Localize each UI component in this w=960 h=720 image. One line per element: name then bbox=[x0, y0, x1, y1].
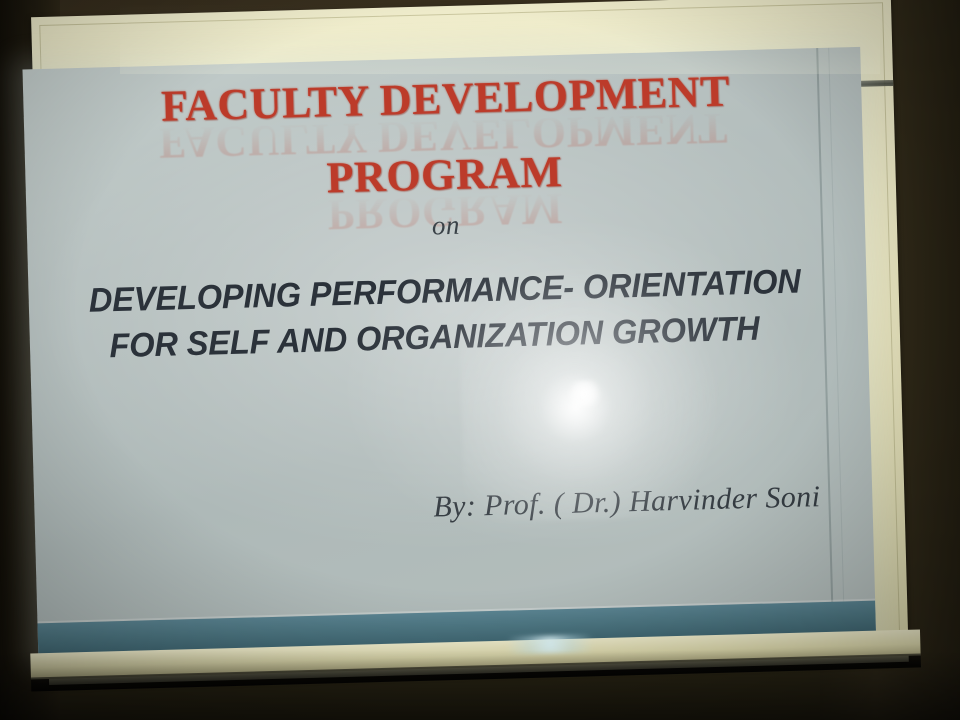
photo-scene: FACULTY DEVELOPMENT FACULTY DEVELOPMENT … bbox=[0, 0, 960, 720]
projector-glare-core bbox=[567, 380, 602, 407]
slide-heading: DEVELOPING PERFORMANCE- ORIENTATION FOR … bbox=[45, 257, 852, 371]
projected-slide: FACULTY DEVELOPMENT FACULTY DEVELOPMENT … bbox=[22, 47, 876, 657]
whiteboard: FACULTY DEVELOPMENT FACULTY DEVELOPMENT … bbox=[0, 0, 931, 691]
slide-byline: By: Prof. ( Dr.) Harvinder Soni bbox=[433, 480, 821, 524]
rail-light-reflection bbox=[490, 634, 610, 655]
